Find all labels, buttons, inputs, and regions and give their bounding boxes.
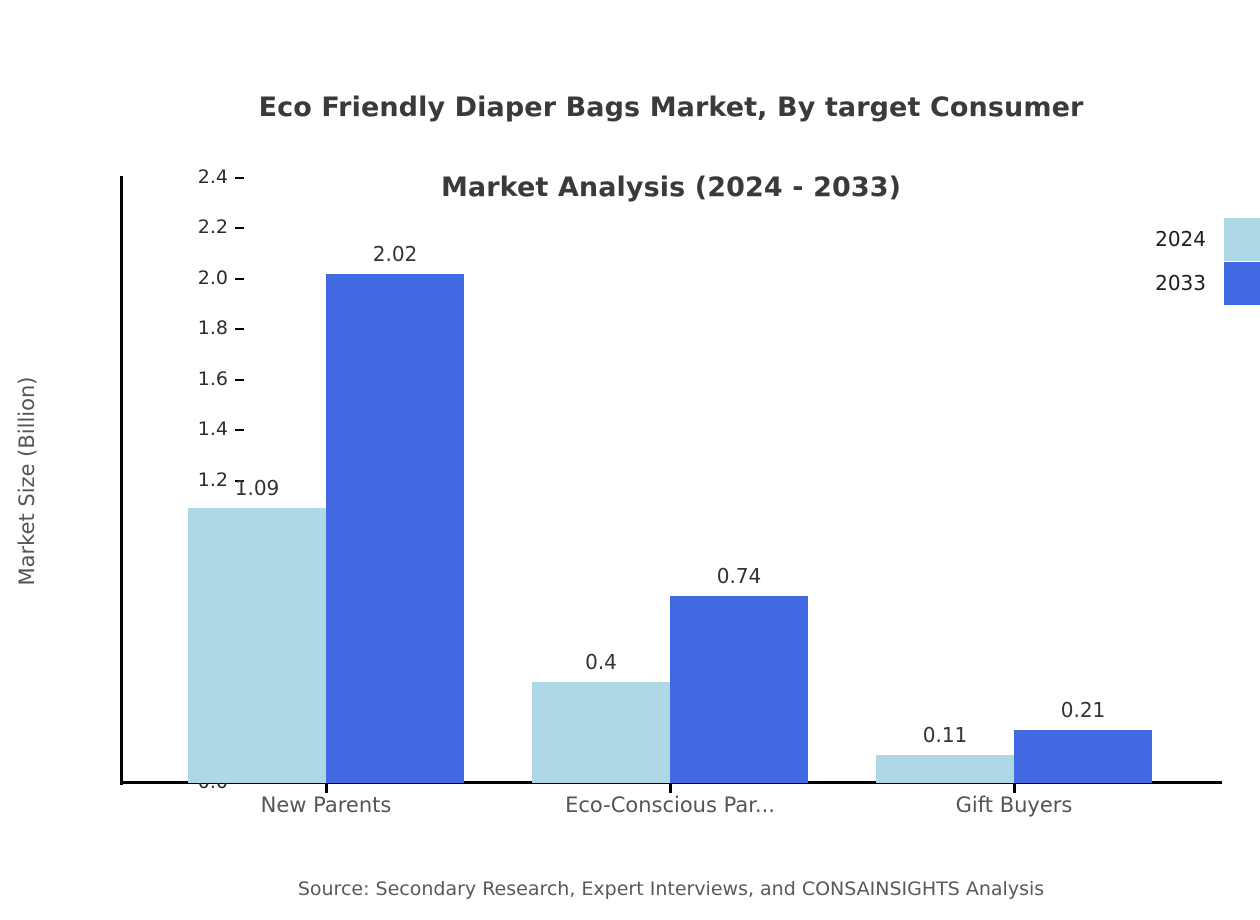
bar[interactable] — [532, 682, 670, 783]
bar-chart-figure: Eco Friendly Diaper Bags Market, By targ… — [0, 0, 1260, 920]
y-axis-tick-label: 2.4 — [198, 166, 228, 188]
y-axis-tick-mark — [235, 429, 244, 431]
plot-area: 0.00.20.40.60.81.01.21.41.61.82.02.22.41… — [122, 178, 1222, 783]
x-axis-tick-mark — [669, 783, 672, 793]
y-axis-tick-label: 2.2 — [198, 216, 228, 238]
x-axis-tick-label: Gift Buyers — [956, 793, 1073, 817]
legend-item[interactable]: 2033 — [1118, 262, 1260, 306]
legend-color-swatch — [1224, 262, 1260, 305]
bar-value-label: 2.02 — [373, 242, 418, 266]
y-axis-tick-mark — [235, 379, 244, 381]
bar[interactable] — [876, 755, 1014, 783]
legend-item-label: 2024 — [1118, 227, 1206, 251]
y-axis-tick-mark — [235, 278, 244, 280]
y-axis-tick-label: 1.6 — [198, 368, 228, 390]
x-axis-tick-mark — [1013, 783, 1016, 793]
y-axis-tick-label: 1.8 — [198, 317, 228, 339]
legend-item-label: 2033 — [1118, 271, 1206, 295]
chart-legend: 20242033 — [1118, 218, 1260, 308]
y-axis-label-text: Market Size (Billion) — [15, 376, 39, 585]
bar-value-label: 0.21 — [1061, 698, 1106, 722]
x-axis-tick-label: Eco-Conscious Par... — [565, 793, 775, 817]
bar-value-label: 0.4 — [585, 650, 617, 674]
bar-value-label: 0.74 — [717, 564, 762, 588]
x-axis-tick-mark — [325, 783, 328, 793]
y-axis-label: Market Size (Billion) — [10, 178, 44, 783]
bar[interactable] — [326, 274, 464, 783]
source-note: Source: Secondary Research, Expert Inter… — [0, 878, 1260, 900]
bar[interactable] — [670, 596, 808, 783]
legend-item[interactable]: 2024 — [1118, 218, 1260, 262]
y-axis-tick-mark — [235, 328, 244, 330]
y-axis-tick-label: 1.4 — [198, 418, 228, 440]
x-axis-tick-label: New Parents — [261, 793, 392, 817]
bar-value-label: 1.09 — [235, 476, 280, 500]
bar[interactable] — [1014, 730, 1152, 783]
bar-value-label: 0.11 — [923, 723, 968, 747]
legend-color-swatch — [1224, 218, 1260, 261]
y-axis-tick-label: 2.0 — [198, 267, 228, 289]
y-axis-tick-label: 1.2 — [198, 469, 228, 491]
chart-title-line-1: Eco Friendly Diaper Bags Market, By targ… — [259, 92, 1084, 123]
y-axis-tick-mark — [235, 177, 244, 179]
y-axis-tick-mark — [235, 227, 244, 229]
bar[interactable] — [188, 508, 326, 783]
